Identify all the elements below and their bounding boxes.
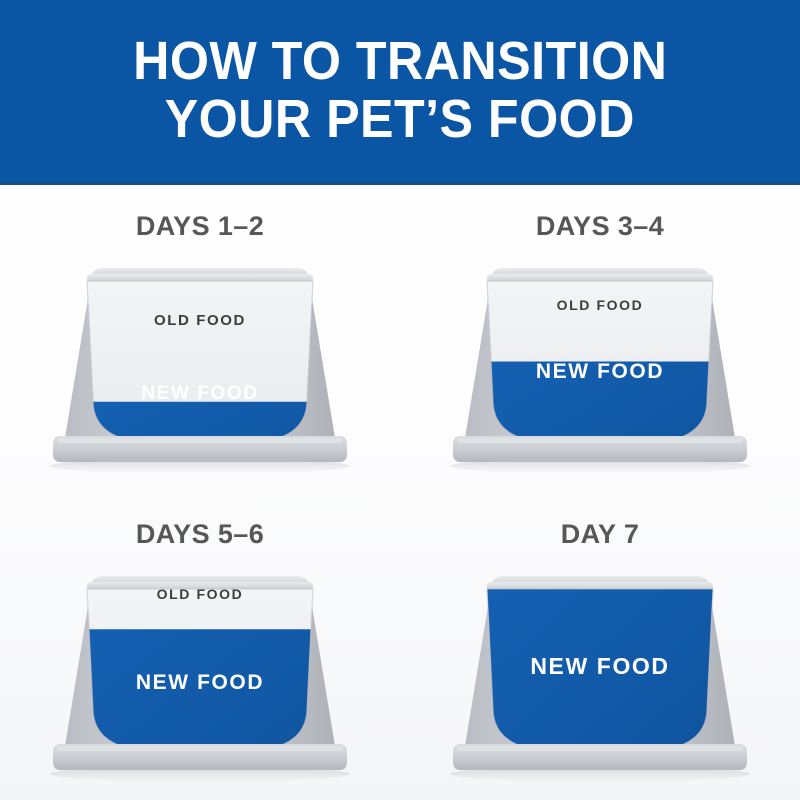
bowl-base-highlight xyxy=(457,746,743,751)
bowl-shadow xyxy=(50,766,350,782)
bowl-base-highlight xyxy=(457,438,743,443)
bowl-illustration xyxy=(35,558,365,793)
panel-day-7: DAY 7 xyxy=(400,493,800,800)
panel-days-5-6: DAYS 5–6 xyxy=(0,493,400,800)
infographic-root: HOW TO TRANSITION YOUR PET’S FOOD DAYS 1… xyxy=(0,0,800,800)
panel-title-days-1-2: DAYS 1–2 xyxy=(136,211,264,242)
panel-title-days-3-4: DAYS 3–4 xyxy=(536,211,664,242)
bowl-shadow xyxy=(450,458,750,474)
header-banner: HOW TO TRANSITION YOUR PET’S FOOD xyxy=(0,0,800,185)
food-bowl-days-5-6: OLD FOOD NEW FOOD xyxy=(35,558,365,793)
panel-grid: DAYS 1–2 xyxy=(0,185,800,800)
panel-title-day-7: DAY 7 xyxy=(561,519,640,550)
header-title-line-1: HOW TO TRANSITION xyxy=(133,34,667,90)
food-bowl-days-3-4: OLD FOOD NEW FOOD xyxy=(435,250,765,485)
panel-days-3-4: DAYS 3–4 xyxy=(400,185,800,493)
food-bowl-day-7: NEW FOOD xyxy=(435,558,765,793)
food-bowl-days-1-2: OLD FOOD NEW FOOD xyxy=(35,250,365,485)
panel-days-1-2: DAYS 1–2 xyxy=(0,185,400,493)
bowl-illustration xyxy=(435,250,765,485)
bowl-illustration xyxy=(435,558,765,793)
bowl-base-highlight xyxy=(57,438,343,443)
bowl-shadow xyxy=(450,766,750,782)
bowl-illustration xyxy=(35,250,365,485)
panel-title-days-5-6: DAYS 5–6 xyxy=(136,519,264,550)
bowl-shadow xyxy=(50,458,350,474)
header-title-line-2: YOUR PET’S FOOD xyxy=(165,92,635,148)
bowl-base-highlight xyxy=(57,746,343,751)
